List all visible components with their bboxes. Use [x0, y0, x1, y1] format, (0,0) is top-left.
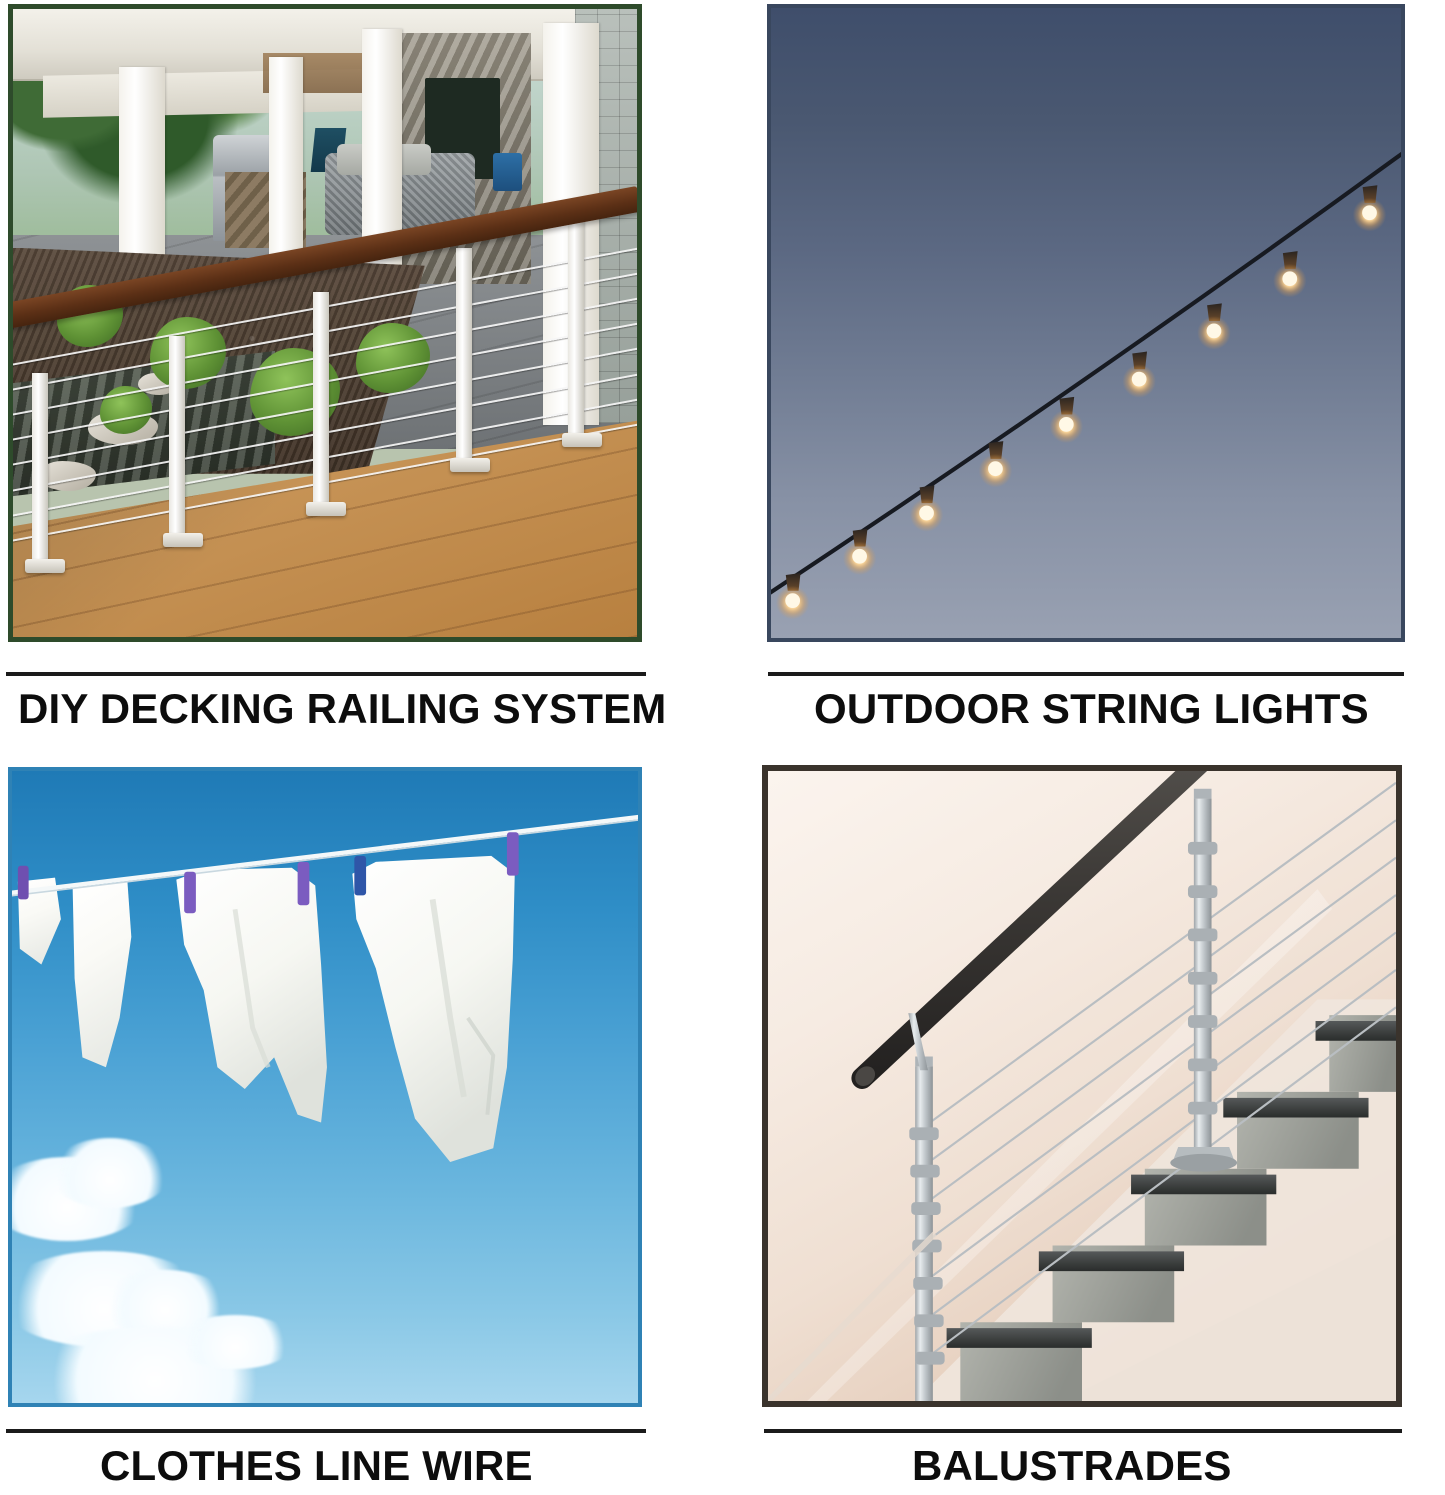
- card-outdoor-string-lights: OUTDOOR STRING LIGHTS: [722, 0, 1445, 747]
- caption-divider: [764, 1429, 1402, 1433]
- railing-post: [169, 336, 185, 537]
- scene-clothes-line: [12, 771, 638, 1403]
- scene-deck-railing: [13, 9, 637, 637]
- photo-balustrades: [768, 771, 1396, 1401]
- string-lights-svg: [771, 8, 1401, 638]
- garment-cloth: [73, 882, 132, 1068]
- clothespin: [354, 856, 366, 896]
- clothespin: [184, 872, 196, 913]
- post-base-plate: [163, 533, 203, 547]
- railing-post: [32, 373, 48, 561]
- clothes-line-svg: [12, 771, 638, 1403]
- post-base-plate: [25, 559, 65, 573]
- photo-frame-deck-railing[interactable]: [8, 4, 642, 642]
- photo-frame-balustrades[interactable]: [762, 765, 1402, 1407]
- clothes-line-wire: [12, 816, 638, 893]
- product-application-grid: DIY DECKING RAILING SYSTEM: [0, 0, 1445, 1495]
- clothespin: [298, 862, 310, 905]
- card-diy-decking-railing-system: DIY DECKING RAILING SYSTEM: [0, 0, 722, 747]
- photo-deck-railing: [13, 9, 637, 637]
- caption-outdoor-string-lights: OUTDOOR STRING LIGHTS: [814, 688, 1369, 730]
- photo-frame-string-lights[interactable]: [767, 4, 1405, 642]
- clothes-line-wire-shadow: [12, 819, 638, 896]
- balustrade-post-left: [908, 1013, 944, 1401]
- caption-divider: [6, 1429, 646, 1433]
- photo-clothes-line: [12, 771, 638, 1403]
- clothespin: [507, 832, 519, 875]
- caption-clothes-line-wire: CLOTHES LINE WIRE: [100, 1445, 533, 1487]
- photo-frame-clothes-line[interactable]: [8, 767, 642, 1407]
- bulb-group: [776, 185, 1386, 619]
- caption-divider: [768, 672, 1404, 676]
- photo-string-lights: [771, 8, 1401, 638]
- blue-cooler: [493, 153, 521, 191]
- scene-balustrade-stairs: [768, 771, 1396, 1401]
- post-base-plate: [450, 458, 490, 472]
- card-clothes-line-wire: CLOTHES LINE WIRE: [0, 747, 722, 1495]
- railing-post: [568, 216, 584, 436]
- scene-string-lights: [771, 8, 1401, 638]
- post-base-plate: [306, 502, 346, 516]
- post-base-plate: [562, 433, 602, 447]
- card-balustrades: BALUSTRADES: [722, 747, 1445, 1495]
- garment-bodysuit: [176, 868, 327, 1123]
- caption-divider: [6, 672, 646, 676]
- balustrade-svg: [768, 771, 1396, 1401]
- caption-balustrades: BALUSTRADES: [912, 1445, 1232, 1487]
- clothespin: [18, 866, 29, 900]
- railing-post: [313, 292, 329, 506]
- caption-diy-decking-railing-system: DIY DECKING RAILING SYSTEM: [18, 688, 667, 730]
- railing-post: [456, 248, 472, 462]
- post-base-plate: [1170, 1154, 1237, 1172]
